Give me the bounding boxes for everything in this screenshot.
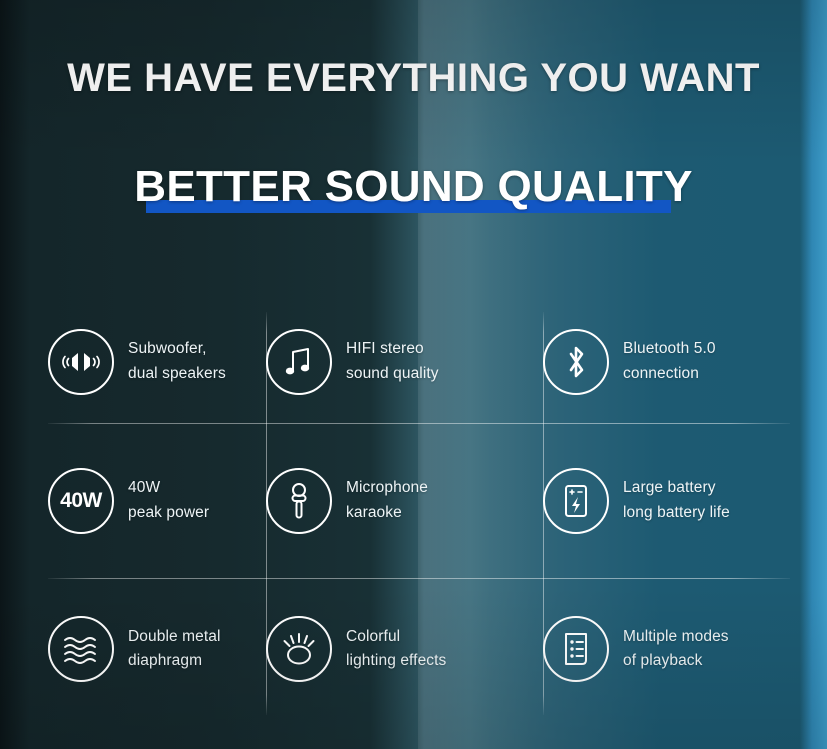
feature-item-playback-modes: Multiple modesof playback (543, 578, 790, 720)
feature-line1: Subwoofer, (128, 340, 207, 357)
feature-grid: Subwoofer,dual speakers HIFI stereosound… (48, 300, 790, 720)
feature-label-playback-modes: Multiple modesof playback (623, 625, 729, 673)
feature-line1: HIFI stereo (346, 340, 424, 357)
sound-waves-icon (48, 616, 114, 682)
feature-item-microphone: Microphonekaraoke (266, 423, 543, 578)
dual-speaker-icon (48, 329, 114, 395)
feature-label-hifi: HIFI stereosound quality (346, 337, 439, 385)
feature-label-battery: Large batterylong battery life (623, 476, 730, 524)
playlist-icon (543, 616, 609, 682)
music-note-icon (266, 329, 332, 395)
feature-label-lighting: Colorfullighting effects (346, 625, 446, 673)
feature-line1: Large battery (623, 479, 716, 496)
feature-item-hifi: HIFI stereosound quality (266, 300, 543, 423)
secondary-heading: BETTER SOUND QUALITY (134, 165, 692, 209)
feature-line2: long battery life (623, 504, 730, 521)
feature-item-peak-power: 40W 40Wpeak power (48, 423, 266, 578)
feature-item-lighting: Colorfullighting effects (266, 578, 543, 720)
feature-line1: Colorful (346, 628, 400, 645)
feature-item-battery: Large batterylong battery life (543, 423, 790, 578)
feature-line1: Bluetooth 5.0 (623, 340, 716, 357)
feature-label-bluetooth: Bluetooth 5.0connection (623, 337, 716, 385)
feature-line1: Multiple modes (623, 628, 729, 645)
heading-block: WE HAVE EVERYTHING YOU WANT BETTER SOUND… (0, 0, 827, 218)
watt-label: 40W (60, 489, 102, 513)
primary-heading: WE HAVE EVERYTHING YOU WANT (0, 58, 827, 98)
feature-line1: Double metal (128, 628, 221, 645)
feature-line2: of playback (623, 652, 703, 669)
promo-banner: WE HAVE EVERYTHING YOU WANT BETTER SOUND… (0, 0, 827, 749)
feature-line1: 40W (128, 479, 160, 496)
feature-line2: karaoke (346, 504, 402, 521)
lighting-effects-icon (266, 616, 332, 682)
feature-item-bluetooth: Bluetooth 5.0connection (543, 300, 790, 423)
feature-item-subwoofer: Subwoofer,dual speakers (48, 300, 266, 423)
power-watt-icon: 40W (48, 468, 114, 534)
feature-item-diaphragm: Double metaldiaphragm (48, 578, 266, 720)
secondary-heading-wrap: BETTER SOUND QUALITY (0, 156, 827, 218)
feature-label-subwoofer: Subwoofer,dual speakers (128, 337, 226, 385)
feature-label-microphone: Microphonekaraoke (346, 476, 428, 524)
bluetooth-icon (543, 329, 609, 395)
feature-line2: connection (623, 365, 699, 382)
battery-bolt-icon (543, 468, 609, 534)
feature-line2: dual speakers (128, 365, 226, 382)
feature-line2: peak power (128, 504, 209, 521)
feature-line2: lighting effects (346, 652, 446, 669)
feature-line2: diaphragm (128, 652, 202, 669)
feature-line2: sound quality (346, 365, 439, 382)
feature-label-diaphragm: Double metaldiaphragm (128, 625, 221, 673)
feature-line1: Microphone (346, 479, 428, 496)
microphone-icon (266, 468, 332, 534)
feature-label-peak-power: 40Wpeak power (128, 476, 209, 524)
